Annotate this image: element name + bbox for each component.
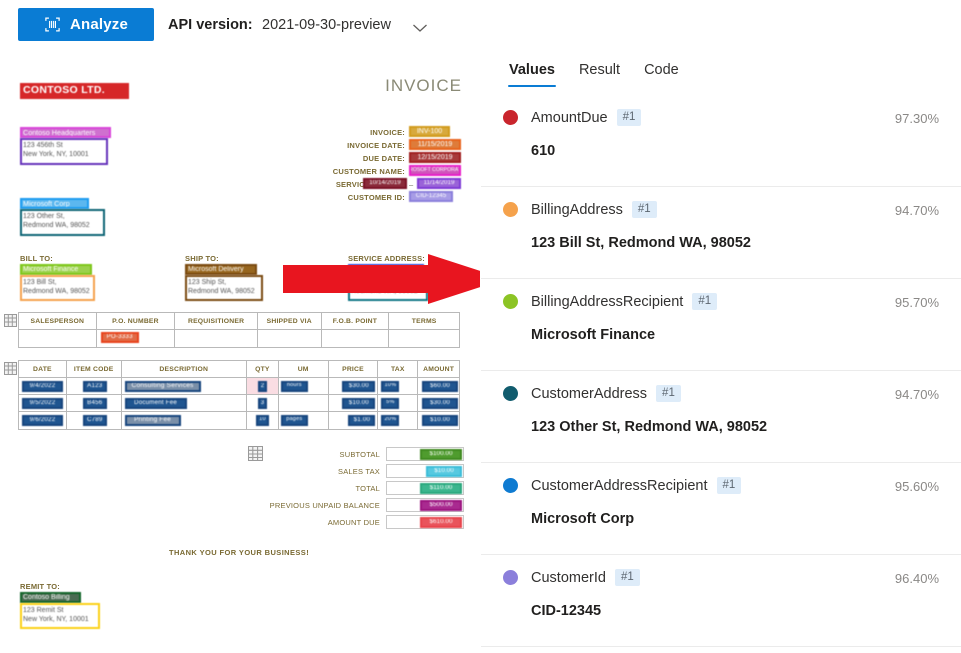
items-table-row[interactable]: 9/4/2022 A123 Consulting Services 2 hour… [19, 378, 459, 395]
doc-label-invoice-id: INVOICE: [250, 128, 405, 137]
doc-bill-to-line1: 123 Bill St, [23, 279, 92, 286]
doc-item3-um[interactable]: pages [281, 415, 308, 426]
field-confidence: 96.40% [895, 571, 939, 586]
chevron-down-icon[interactable] [412, 20, 428, 30]
items-td-tax: 20% [378, 412, 418, 429]
totals-box-amount-due[interactable]: $610.00 [386, 515, 464, 529]
sales-td-po-number: PO-3333 [97, 330, 176, 347]
doc-item2-tax[interactable]: 5% [381, 398, 399, 409]
doc-field-hq-address[interactable]: 123 456th St New York, NY, 10001 [20, 138, 108, 165]
sales-th-requisitioner: REQUISITIONER [175, 313, 258, 330]
tab-code[interactable]: Code [632, 58, 691, 87]
api-version-label: API version: [168, 17, 253, 33]
doc-label-ship-to: SHIP TO: [185, 254, 219, 263]
doc-item2-qty[interactable]: 3 [258, 398, 267, 409]
doc-remit-line1: 123 Remit St [23, 607, 97, 614]
table-grid-icon[interactable] [4, 362, 17, 375]
totals-box-total[interactable]: $110.00 [386, 481, 464, 495]
doc-field-customer-name[interactable]: MICROSOFT CORPORATION [409, 165, 461, 176]
doc-service-period-dash: – [409, 180, 413, 189]
doc-item2-code[interactable]: B456 [83, 398, 107, 409]
doc-field-customer-address[interactable]: 123 Other St, Redmond WA, 98052 [20, 209, 105, 236]
sales-table-row[interactable]: PO-3333 [19, 330, 459, 347]
field-index-badge: #1 [632, 201, 657, 218]
totals-box-subtotal[interactable]: $100.00 [386, 447, 464, 461]
analyze-button[interactable]: Analyze [18, 8, 154, 41]
doc-field-shipping-address[interactable]: 123 Ship St, Redmond WA, 98052 [185, 275, 263, 301]
items-th-um: UM [279, 361, 329, 378]
doc-field-invoice-total[interactable]: $110.00 [420, 483, 462, 494]
sales-td-terms [389, 330, 459, 347]
doc-ship-to-line1: 123 Ship St, [188, 279, 260, 286]
doc-item3-tax[interactable]: 20% [381, 415, 399, 426]
doc-item3-description[interactable]: Printing Fee [125, 415, 181, 426]
items-th-description: DESCRIPTION [122, 361, 247, 378]
analyze-button-label: Analyze [70, 16, 128, 33]
items-td-um: pages [279, 412, 329, 429]
items-td-amount: $30.00 [418, 395, 459, 412]
field-index-badge: #1 [717, 477, 742, 494]
doc-item1-qty[interactable]: 2 [258, 381, 267, 392]
field-color-dot-icon [503, 570, 518, 585]
field-name: AmountDue [531, 110, 608, 126]
toolbar: Analyze API version: 2021-09-30-preview [0, 0, 961, 48]
doc-bill-to-line2: Redmond WA, 98052 [23, 288, 92, 295]
value-header-row: CustomerId #1 [503, 569, 939, 586]
sales-td-salesperson [19, 330, 97, 347]
sales-td-fob-point [322, 330, 390, 347]
items-td-desc: Document Fee [122, 395, 247, 412]
doc-label-bill-to: BILL TO: [20, 254, 53, 263]
sales-th-terms: TERMS [389, 313, 459, 330]
doc-label-due-date: DUE DATE: [250, 154, 405, 163]
field-index-badge: #1 [656, 385, 681, 402]
value-header-row: CustomerAddressRecipient #1 [503, 477, 939, 494]
doc-field-remittance-address[interactable]: 123 Remit St New York, NY, 10001 [20, 603, 100, 629]
sales-th-salesperson: SALESPERSON [19, 313, 97, 330]
items-th-date: DATE [19, 361, 67, 378]
items-td-code: B456 [67, 395, 122, 412]
field-name: BillingAddressRecipient [531, 294, 683, 310]
field-value: CID-12345 [531, 603, 939, 619]
items-td-qty: 10 [247, 412, 279, 429]
doc-label-customer-id: CUSTOMER ID: [250, 193, 405, 202]
doc-item3-amount[interactable]: $10.00 [422, 415, 458, 426]
doc-field-service-period-start[interactable]: 10/14/2019 [363, 178, 407, 189]
field-color-dot-icon [503, 386, 518, 401]
sales-th-po-number: P.O. NUMBER [97, 313, 176, 330]
field-confidence: 94.70% [895, 203, 939, 218]
doc-item3-qty[interactable]: 10 [256, 415, 269, 426]
doc-item1-description[interactable]: Consulting Services [125, 381, 201, 392]
items-td-qty: 3 [247, 395, 279, 412]
items-table-row[interactable]: 9/6/2022 C789 Printing Fee 10 pages $1.0… [19, 412, 459, 429]
sales-th-shipped-via: SHIPPED VIA [258, 313, 322, 330]
items-td-desc: Printing Fee [122, 412, 247, 429]
doc-label-invoice-date: INVOICE DATE: [250, 141, 405, 150]
doc-item1-code[interactable]: A123 [83, 381, 107, 392]
field-value: 123 Bill St, Redmond WA, 98052 [531, 235, 939, 251]
list-item[interactable]: CustomerId #1 96.40% CID-12345 [481, 555, 961, 647]
items-td-code: C789 [67, 412, 122, 429]
field-name: CustomerId [531, 570, 606, 586]
doc-field-billing-address-recipient[interactable]: Microsoft Finance [20, 264, 92, 275]
items-td-price: $1.00 [329, 412, 379, 429]
items-td-date: 9/6/2022 [19, 412, 67, 429]
doc-ship-to-line2: Redmond WA, 98052 [188, 288, 260, 295]
doc-field-hq-recipient[interactable]: Contoso Headquarters [20, 127, 111, 138]
doc-item1-um[interactable]: hours [281, 381, 308, 392]
field-name: CustomerAddressRecipient [531, 478, 708, 494]
totals-box-sales-tax[interactable]: $10.00 [386, 464, 464, 478]
field-index-badge: #1 [692, 293, 717, 310]
doc-item1-tax[interactable]: 10% [381, 381, 399, 392]
items-td-date: 9/4/2022 [19, 378, 67, 395]
doc-hq-address-line1: 123 456th St [23, 142, 105, 149]
results-pane: Values Result Code AmountDue #1 97.30% 6… [481, 48, 961, 653]
doc-field-shipping-address-recipient[interactable]: Microsoft Delivery [185, 264, 257, 275]
field-color-dot-icon [503, 294, 518, 309]
doc-hq-address-line2: New York, NY, 10001 [23, 151, 105, 158]
sales-td-requisitioner [175, 330, 258, 347]
items-th-item-code: ITEM CODE [67, 361, 122, 378]
doc-field-invoice-date[interactable]: 11/15/2019 [409, 139, 461, 150]
field-value: 610 [531, 143, 939, 159]
field-color-dot-icon [503, 202, 518, 217]
doc-item1-date[interactable]: 9/4/2022 [22, 381, 63, 392]
list-item[interactable]: CustomerAddress #1 94.70% 123 Other St, … [481, 371, 961, 463]
sales-td-shipped-via [258, 330, 322, 347]
doc-item2-date[interactable]: 9/5/2022 [22, 398, 63, 409]
doc-item2-amount[interactable]: $30.00 [422, 398, 458, 409]
items-td-price: $10.00 [329, 395, 379, 412]
field-index-badge: #1 [617, 109, 642, 126]
doc-item2-description[interactable]: Document Fee [125, 398, 187, 409]
items-td-price: $30.00 [329, 378, 379, 395]
totals-label-previous-unpaid: PREVIOUS UNPAID BALANCE [140, 501, 380, 510]
field-confidence: 95.70% [895, 295, 939, 310]
doc-label-customer-name: CUSTOMER NAME: [230, 167, 405, 176]
doc-field-vendor-name[interactable]: CONTOSO LTD. [20, 83, 129, 99]
doc-field-amount-due[interactable]: $610.00 [420, 517, 462, 528]
items-table-row[interactable]: 9/5/2022 B456 Document Fee 3 $10.00 5% $… [19, 395, 459, 412]
doc-field-billing-address[interactable]: 123 Bill St, Redmond WA, 98052 [20, 275, 95, 301]
doc-field-purchase-order[interactable]: PO-3333 [101, 332, 139, 343]
doc-customer-address-line1: 123 Other St, [23, 213, 102, 220]
doc-field-invoice-id[interactable]: INV-100 [409, 126, 450, 137]
items-td-um [279, 395, 329, 412]
totals-label-total: TOTAL [170, 484, 380, 493]
items-th-tax: TAX [378, 361, 418, 378]
doc-field-due-date[interactable]: 12/15/2019 [409, 152, 461, 163]
doc-field-remittance-recipient[interactable]: Contoso Billing [20, 592, 81, 603]
field-value: Microsoft Finance [531, 327, 939, 343]
items-th-qty: QTY [247, 361, 279, 378]
doc-customer-address-line2: Redmond WA, 98052 [23, 222, 102, 229]
field-name: CustomerAddress [531, 386, 647, 402]
field-color-dot-icon [503, 478, 518, 493]
doc-label-remit-to: REMIT TO: [20, 582, 60, 591]
field-confidence: 97.30% [895, 111, 939, 126]
sales-th-fob-point: F.O.B. POINT [322, 313, 390, 330]
value-header-row: CustomerAddress #1 [503, 385, 939, 402]
items-td-date: 9/5/2022 [19, 395, 67, 412]
items-td-tax: 10% [378, 378, 418, 395]
totals-box-previous-unpaid[interactable]: $500.00 [386, 498, 464, 512]
doc-item3-code[interactable]: C789 [83, 415, 107, 426]
totals-label-amount-due: AMOUNT DUE [170, 518, 380, 527]
table-grid-icon[interactable] [4, 314, 17, 327]
doc-field-customer-recipient[interactable]: Microsoft Corp [20, 198, 89, 209]
value-header-row: BillingAddress #1 [503, 201, 939, 218]
doc-item2-price[interactable]: $10.00 [342, 398, 375, 409]
items-td-code: A123 [67, 378, 122, 395]
results-tabs: Values Result Code [497, 58, 691, 87]
sales-table-header-row: SALESPERSON P.O. NUMBER REQUISITIONER SH… [19, 313, 459, 330]
values-list[interactable]: AmountDue #1 97.30% 610 BillingAddress #… [481, 95, 961, 653]
list-item[interactable]: AmountDue #1 97.30% 610 [481, 95, 961, 187]
doc-field-total-tax[interactable]: $10.00 [426, 466, 462, 477]
field-value: 123 Other St, Redmond WA, 98052 [531, 419, 939, 435]
doc-field-previous-unpaid-balance[interactable]: $500.00 [420, 500, 462, 511]
red-arrow-annotation [283, 254, 480, 304]
scan-barcode-icon [44, 16, 61, 33]
items-td-qty: 2 [247, 378, 279, 395]
tab-result[interactable]: Result [567, 58, 632, 87]
items-th-price: PRICE [329, 361, 379, 378]
totals-label-sales-tax: SALES TAX [170, 467, 380, 476]
value-header-row: AmountDue #1 [503, 109, 939, 126]
line-items-table[interactable]: DATE ITEM CODE DESCRIPTION QTY UM PRICE … [18, 360, 460, 430]
document-preview-pane[interactable]: CONTOSO LTD. INVOICE Contoso Headquarter… [0, 48, 480, 653]
field-confidence: 95.60% [895, 479, 939, 494]
value-header-row: BillingAddressRecipient #1 [503, 293, 939, 310]
doc-item3-date[interactable]: 9/6/2022 [22, 415, 63, 426]
items-th-amount: AMOUNT [418, 361, 459, 378]
doc-invoice-title: INVOICE [385, 76, 462, 96]
field-index-badge: #1 [615, 569, 640, 586]
doc-item1-price[interactable]: $30.00 [342, 381, 375, 392]
sales-info-table[interactable]: SALESPERSON P.O. NUMBER REQUISITIONER SH… [18, 312, 460, 348]
doc-field-service-period-end[interactable]: 11/14/2019 [417, 178, 461, 189]
field-color-dot-icon [503, 110, 518, 125]
field-name: BillingAddress [531, 202, 623, 218]
doc-thank-you-note: THANK YOU FOR YOUR BUSINESS! [169, 548, 309, 557]
items-table-header-row: DATE ITEM CODE DESCRIPTION QTY UM PRICE … [19, 361, 459, 378]
doc-field-subtotal[interactable]: $100.00 [420, 449, 462, 460]
list-item[interactable]: BillingAddress #1 94.70% 123 Bill St, Re… [481, 187, 961, 279]
doc-item3-price[interactable]: $1.00 [348, 415, 375, 426]
doc-remit-line2: New York, NY, 10001 [23, 616, 97, 623]
totals-label-subtotal: SUBTOTAL [170, 450, 380, 459]
field-value: Microsoft Corp [531, 511, 939, 527]
items-td-tax: 5% [378, 395, 418, 412]
field-confidence: 94.70% [895, 387, 939, 402]
api-version-value[interactable]: 2021-09-30-preview [262, 17, 391, 33]
doc-item1-amount[interactable]: $60.00 [422, 381, 458, 392]
items-td-amount: $10.00 [418, 412, 459, 429]
items-td-desc: Consulting Services [122, 378, 247, 395]
list-item[interactable]: CustomerAddressRecipient #1 95.60% Micro… [481, 463, 961, 555]
items-td-um: hours [279, 378, 329, 395]
tab-values[interactable]: Values [497, 58, 567, 87]
doc-field-customer-id[interactable]: CID-12345 [409, 191, 453, 202]
list-item[interactable]: BillingAddressRecipient #1 95.70% Micros… [481, 279, 961, 371]
items-td-amount: $60.00 [418, 378, 459, 395]
